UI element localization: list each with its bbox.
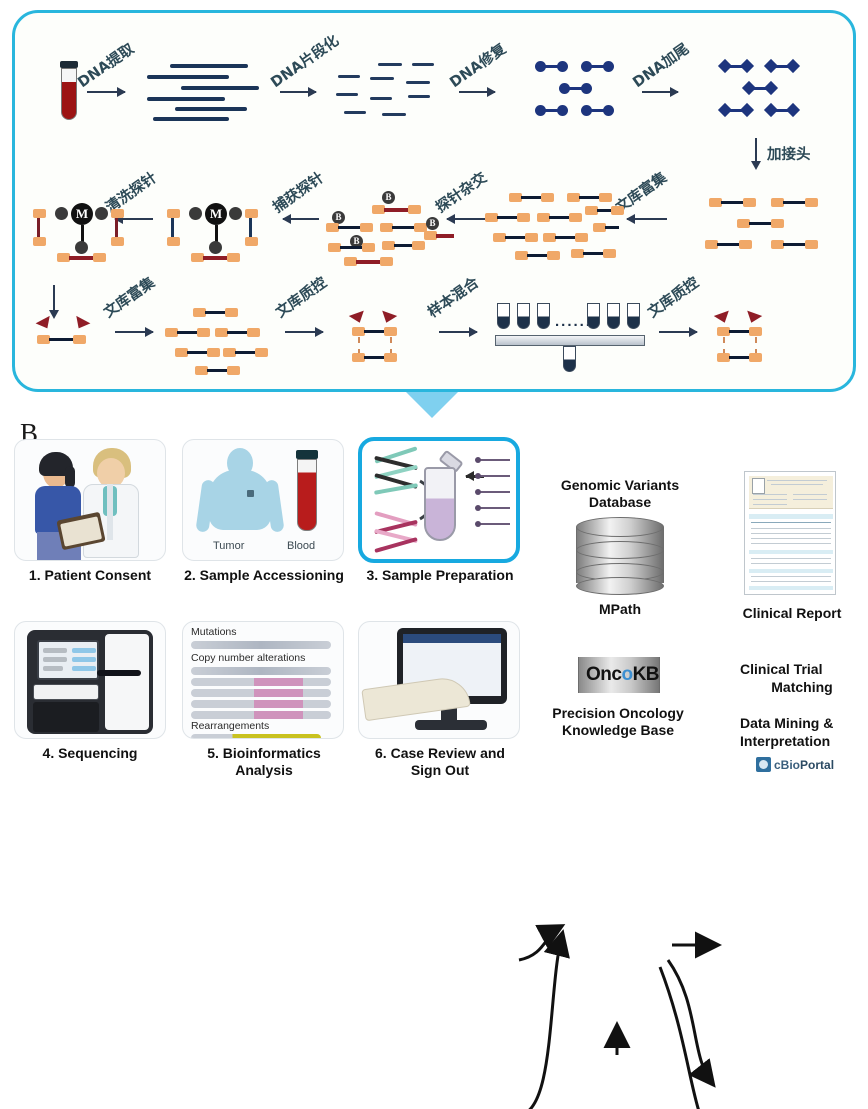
label-dna-repair: DNA修复 bbox=[445, 38, 510, 92]
label-capture-probe: 捕获探针 bbox=[268, 167, 328, 217]
arrow-qc-2 bbox=[659, 331, 697, 333]
label-library-enrichment-2: 文库富集 bbox=[99, 272, 159, 322]
biotin-mark-icon-3: B bbox=[426, 217, 439, 230]
eppendorf-tube-icon bbox=[424, 467, 456, 541]
card-sequencing[interactable] bbox=[14, 621, 166, 739]
adapter-product-1 bbox=[33, 331, 93, 355]
arrow-qc-1 bbox=[285, 331, 323, 333]
clinical-report-thumbnail[interactable] bbox=[744, 471, 836, 595]
arrow-capture bbox=[283, 218, 319, 220]
arrow-pooling bbox=[439, 331, 477, 333]
body-silhouette-icon bbox=[197, 448, 283, 536]
label-sample-accessioning: 2. Sample Accessioning bbox=[176, 567, 352, 584]
dna-helix-green-icon bbox=[374, 451, 418, 491]
probe-icon-c bbox=[55, 207, 68, 220]
arrow-repair bbox=[459, 91, 495, 93]
label-library-qc-2: 文库质控 bbox=[643, 272, 703, 322]
db-title-line2: Database bbox=[540, 494, 700, 511]
cbio-text-1: cBio bbox=[774, 758, 800, 772]
arrow-down-row3 bbox=[53, 285, 55, 311]
hybridized-library bbox=[485, 193, 615, 259]
sample-pooling-illustration: ...... bbox=[495, 303, 645, 383]
label-bioinformatics-line2: Analysis bbox=[176, 762, 352, 779]
label-dna-extraction: DNA提取 bbox=[73, 38, 138, 92]
card-patient-consent[interactable] bbox=[14, 439, 166, 561]
blood-vial-icon bbox=[297, 459, 317, 531]
label-data-mining-line2: Interpretation bbox=[740, 733, 864, 751]
arrow-add-adapter bbox=[755, 138, 757, 162]
biotin-icon-lower bbox=[209, 241, 222, 254]
enriched-library bbox=[165, 308, 275, 368]
genomic-variants-database-icon bbox=[576, 517, 664, 593]
label-clinical-report: Clinical Report bbox=[736, 605, 848, 623]
card-sample-accessioning[interactable]: Tumor Blood bbox=[182, 439, 344, 561]
oncokb-text-part1: Onc bbox=[586, 664, 621, 685]
label-case-review-line2: Sign Out bbox=[352, 762, 528, 779]
oncokb-database-icon bbox=[580, 1063, 658, 1109]
label-sequencing: 4. Sequencing bbox=[8, 745, 172, 762]
label-library-qc-1: 文库质控 bbox=[271, 272, 331, 322]
probe-set-icon bbox=[476, 457, 518, 533]
label-clinical-trial-line2: Matching bbox=[740, 679, 864, 697]
label-sample-preparation: 3. Sample Preparation bbox=[352, 567, 528, 584]
arrow-enrichment-1 bbox=[627, 218, 667, 220]
arrow-enrichment-2 bbox=[115, 331, 153, 333]
label-patient-consent: 1. Patient Consent bbox=[14, 567, 166, 584]
db-title-line1: Genomic Variants bbox=[540, 477, 700, 494]
caption-tumor: Tumor bbox=[213, 540, 244, 552]
probe-icon-d bbox=[95, 207, 108, 220]
track-label-cna: Copy number alterations bbox=[191, 652, 305, 664]
qc-product-2 bbox=[715, 313, 765, 365]
card-bioinformatics-analysis[interactable]: Mutations Copy number alterations Rearra… bbox=[182, 621, 344, 739]
label-case-review-line1: 6. Case Review and bbox=[352, 745, 528, 762]
tailed-dna bbox=[720, 61, 806, 121]
dna-helix-pink-icon bbox=[374, 515, 418, 553]
arrow-extraction bbox=[87, 91, 125, 93]
panel-a-workflow: DNA提取 DNA片段化 DNA修复 DNA加尾 bbox=[12, 10, 856, 392]
captured-fragments: B B B B bbox=[320, 191, 440, 261]
dna-fragments bbox=[330, 61, 430, 121]
caption-blood: Blood bbox=[287, 540, 315, 552]
oncokb-text-part2: o bbox=[621, 664, 632, 685]
magnet-bead-icon: M bbox=[205, 203, 227, 225]
magnetic-bead-complex-1: M bbox=[33, 193, 125, 265]
cbioportal-icon bbox=[756, 757, 771, 772]
arrow-fragmentation bbox=[280, 91, 316, 93]
extracted-dna-strands bbox=[145, 61, 265, 119]
magnet-bead-icon-2: M bbox=[71, 203, 93, 225]
panel-b-clinical-workflow: 1. Patient Consent Tumor Blood 2. Sample… bbox=[0, 415, 868, 799]
card-case-review[interactable] bbox=[358, 621, 520, 739]
db-subtitle-mpath: MPath bbox=[576, 601, 664, 617]
arrow-hybridization bbox=[447, 218, 485, 220]
card-sample-preparation[interactable] bbox=[358, 437, 520, 563]
label-add-adapter: 加接头 bbox=[767, 143, 811, 164]
biotin-mark-icon: B bbox=[382, 191, 395, 204]
sequencer-screen bbox=[37, 640, 99, 680]
label-clinical-trial-line1: Clinical Trial bbox=[740, 661, 864, 679]
oncokb-logo-text: OncoKB bbox=[586, 664, 659, 686]
cbio-text-2: Portal bbox=[800, 758, 834, 772]
repaired-dna bbox=[535, 61, 621, 121]
label-bioinformatics-line1: 5. Bioinformatics bbox=[176, 745, 352, 762]
label-sample-pooling: 样本混合 bbox=[423, 272, 483, 322]
oncokb-text-part3: KB bbox=[633, 664, 659, 685]
cbioportal-logo[interactable]: cBioPortal bbox=[756, 757, 834, 772]
track-label-mutations: Mutations bbox=[191, 626, 237, 638]
biotin-icon-lower-2 bbox=[75, 241, 88, 254]
probe-icon-b bbox=[229, 207, 242, 220]
probe-icon-a bbox=[189, 207, 202, 220]
track-label-rearrangements: Rearrangements bbox=[191, 720, 269, 732]
adapter-ligated-library bbox=[705, 198, 815, 250]
oncokb-caption-line1: Precision Oncology bbox=[528, 705, 708, 722]
qc-product-1 bbox=[350, 313, 400, 365]
label-dna-tailing: DNA加尾 bbox=[628, 38, 693, 92]
label-data-mining-line1: Data Mining & bbox=[740, 715, 864, 733]
oncokb-caption-line2: Knowledge Base bbox=[528, 722, 708, 739]
arrow-tailing bbox=[642, 91, 678, 93]
magnetic-bead-complex-2: M bbox=[167, 193, 259, 265]
blood-vial-cap bbox=[296, 450, 318, 459]
tumor-marker-icon bbox=[247, 490, 254, 497]
